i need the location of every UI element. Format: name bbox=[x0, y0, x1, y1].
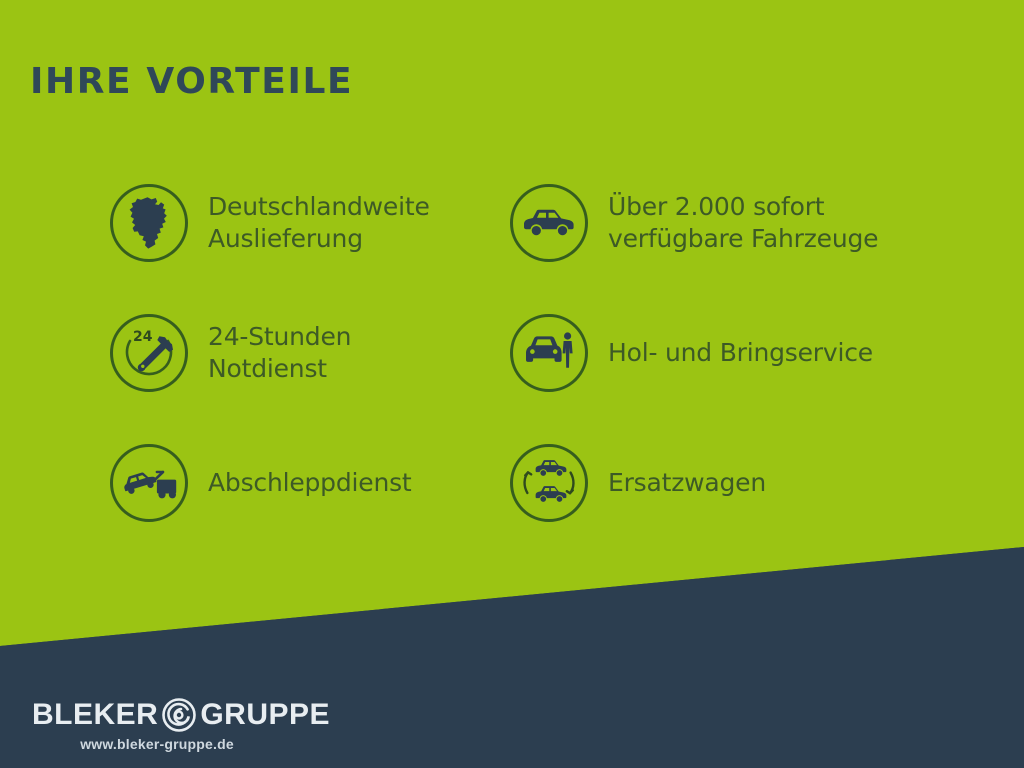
feature-label: Über 2.000 sofort verfügbare Fahrzeuge bbox=[608, 191, 878, 255]
feature-item-24-stunden-notdienst: 24 24-Stunden Notdienst bbox=[110, 288, 500, 418]
car-with-attendant-icon bbox=[510, 314, 588, 392]
logo-word-bleker: BLEKER bbox=[32, 700, 158, 730]
tow-truck-icon bbox=[110, 444, 188, 522]
feature-label: 24-Stunden Notdienst bbox=[208, 321, 351, 385]
svg-text:24: 24 bbox=[133, 329, 153, 345]
car-side-icon bbox=[510, 184, 588, 262]
logo-wordmark: BLEKER GRUPPE bbox=[32, 697, 332, 733]
feature-item-hol-und-bringservice: Hol- und Bringservice bbox=[510, 288, 940, 418]
feature-label: Ersatzwagen bbox=[608, 467, 766, 499]
features-grid: Deutschlandweite Auslieferung Über 2.000… bbox=[110, 158, 990, 548]
feature-item-ersatzwagen: Ersatzwagen bbox=[510, 418, 940, 548]
feature-item-verfuegbare-fahrzeuge: Über 2.000 sofort verfügbare Fahrzeuge bbox=[510, 158, 940, 288]
website-url[interactable]: www.bleker-gruppe.de bbox=[32, 736, 282, 752]
feature-label: Hol- und Bringservice bbox=[608, 337, 873, 369]
logo-word-gruppe: GRUPPE bbox=[200, 700, 330, 730]
24-hour-wrench-icon: 24 bbox=[110, 314, 188, 392]
feature-item-deutschlandweite-auslieferung: Deutschlandweite Auslieferung bbox=[110, 158, 500, 288]
brand-logo[interactable]: BLEKER GRUPPE www.bleker-gruppe.de bbox=[32, 697, 332, 752]
page-title: IHRE VORTEILE bbox=[30, 62, 353, 102]
spiral-logo-icon bbox=[161, 697, 197, 733]
car-exchange-icon bbox=[510, 444, 588, 522]
feature-label: Deutschlandweite Auslieferung bbox=[208, 191, 430, 255]
feature-label: Abschleppdienst bbox=[208, 467, 412, 499]
germany-map-icon bbox=[110, 184, 188, 262]
feature-item-abschleppdienst: Abschleppdienst bbox=[110, 418, 500, 548]
slide-canvas: IHRE VORTEILE Deutschlandweite Ausliefer… bbox=[0, 0, 1024, 768]
